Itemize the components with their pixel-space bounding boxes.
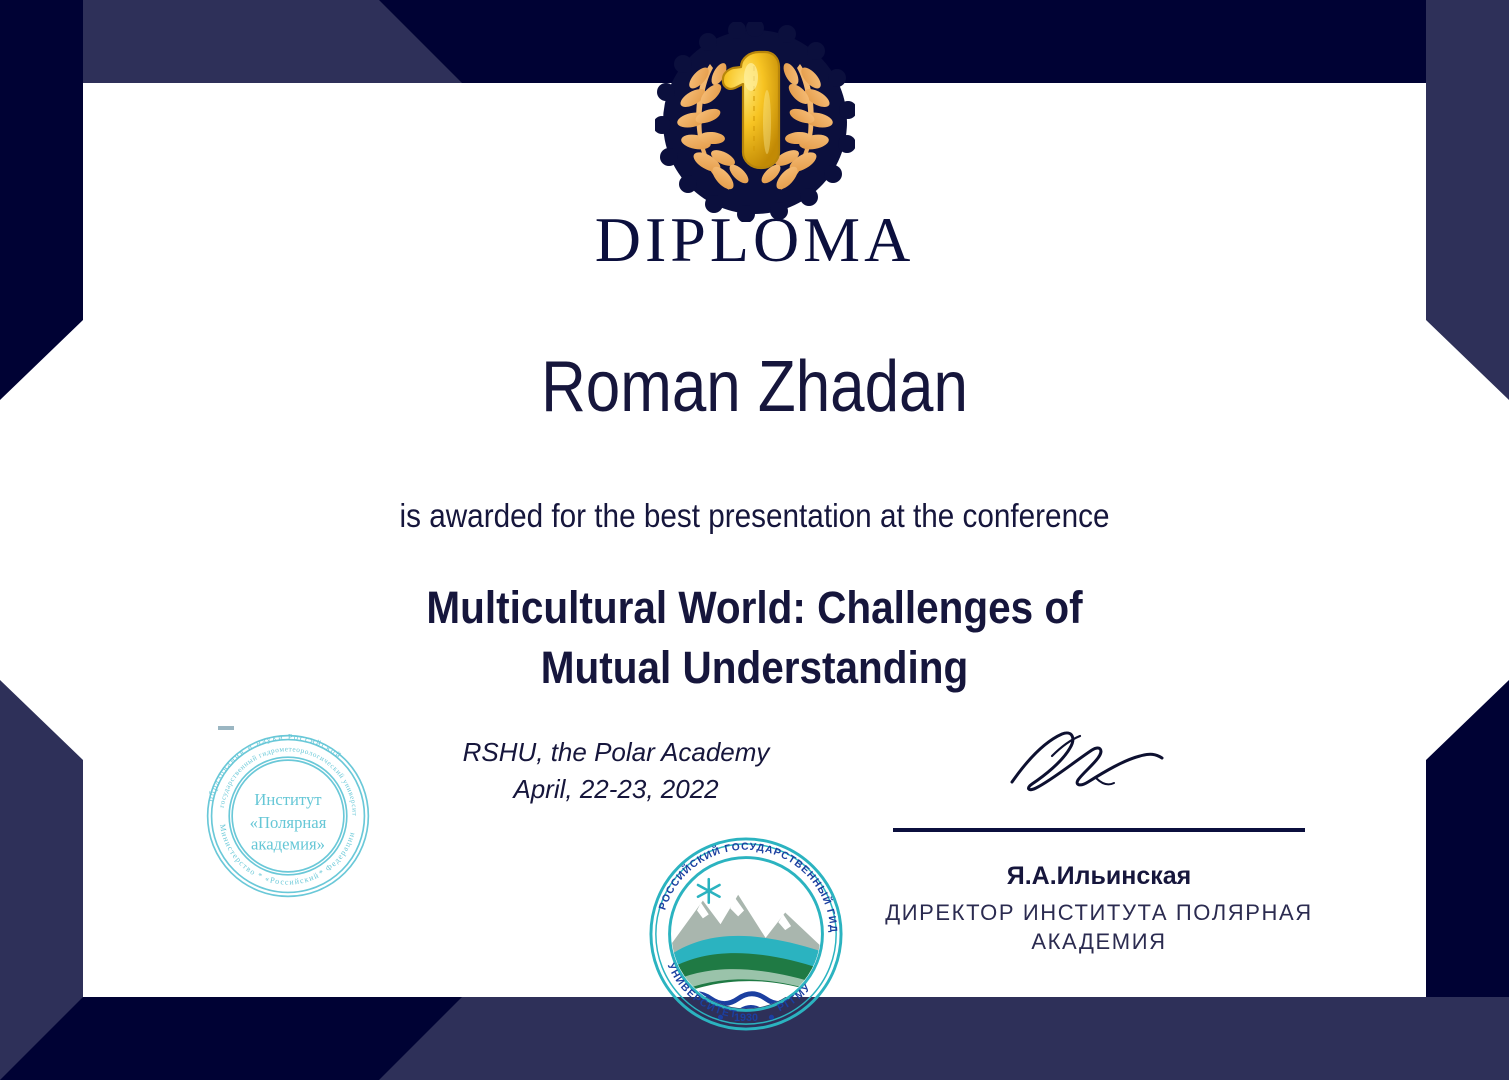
medal-first-place-icon: [655, 22, 855, 222]
recipient-name: Roman Zhadan: [106, 348, 1404, 427]
svg-text:Институт: Институт: [254, 790, 322, 809]
rshu-university-seal-icon: РОССИЙСКИЙ ГОСУДАРСТВЕННЫЙ ГИДРОМЕТЕОРОЛ…: [648, 836, 844, 1032]
conference-title-line1: Multicultural World: Challenges of: [426, 582, 1082, 633]
certificate-content: DIPLOMA Roman Zhadan is awarded for the …: [0, 0, 1509, 1080]
signer-role-line1: ДИРЕКТОР ИНСТИТУТА ПОЛЯРНАЯ: [885, 900, 1313, 925]
conference-venue-date: RSHU, the Polar Academy April, 22-23, 20…: [336, 734, 896, 808]
conference-venue: RSHU, the Polar Academy: [336, 734, 896, 771]
signer-role: ДИРЕКТОР ИНСТИТУТА ПОЛЯРНАЯ АКАДЕМИЯ: [873, 898, 1325, 957]
signer-role-line2: АКАДЕМИЯ: [873, 927, 1325, 956]
conference-title-line2: Mutual Understanding: [75, 638, 1433, 698]
signature-line: [893, 828, 1305, 832]
svg-text:«Полярная: «Полярная: [250, 813, 327, 832]
diploma-certificate: DIPLOMA Roman Zhadan is awarded for the …: [0, 0, 1509, 1080]
svg-text:академия»: академия»: [251, 834, 325, 853]
award-statement: is awarded for the best presentation at …: [75, 497, 1433, 535]
page-title: DIPLOMA: [0, 208, 1509, 272]
conference-date: April, 22-23, 2022: [336, 771, 896, 808]
official-round-stamp-icon: образования и науки Российской государст…: [190, 718, 386, 914]
conference-title: Multicultural World: Challenges of Mutua…: [75, 578, 1433, 698]
svg-text:1930: 1930: [734, 1012, 758, 1024]
svg-text:Министерство * «Российский: Министерство * «Российский: [218, 823, 321, 886]
handwritten-signature-icon: [1000, 726, 1170, 806]
signer-name: Я.А.Ильинская: [893, 862, 1305, 891]
